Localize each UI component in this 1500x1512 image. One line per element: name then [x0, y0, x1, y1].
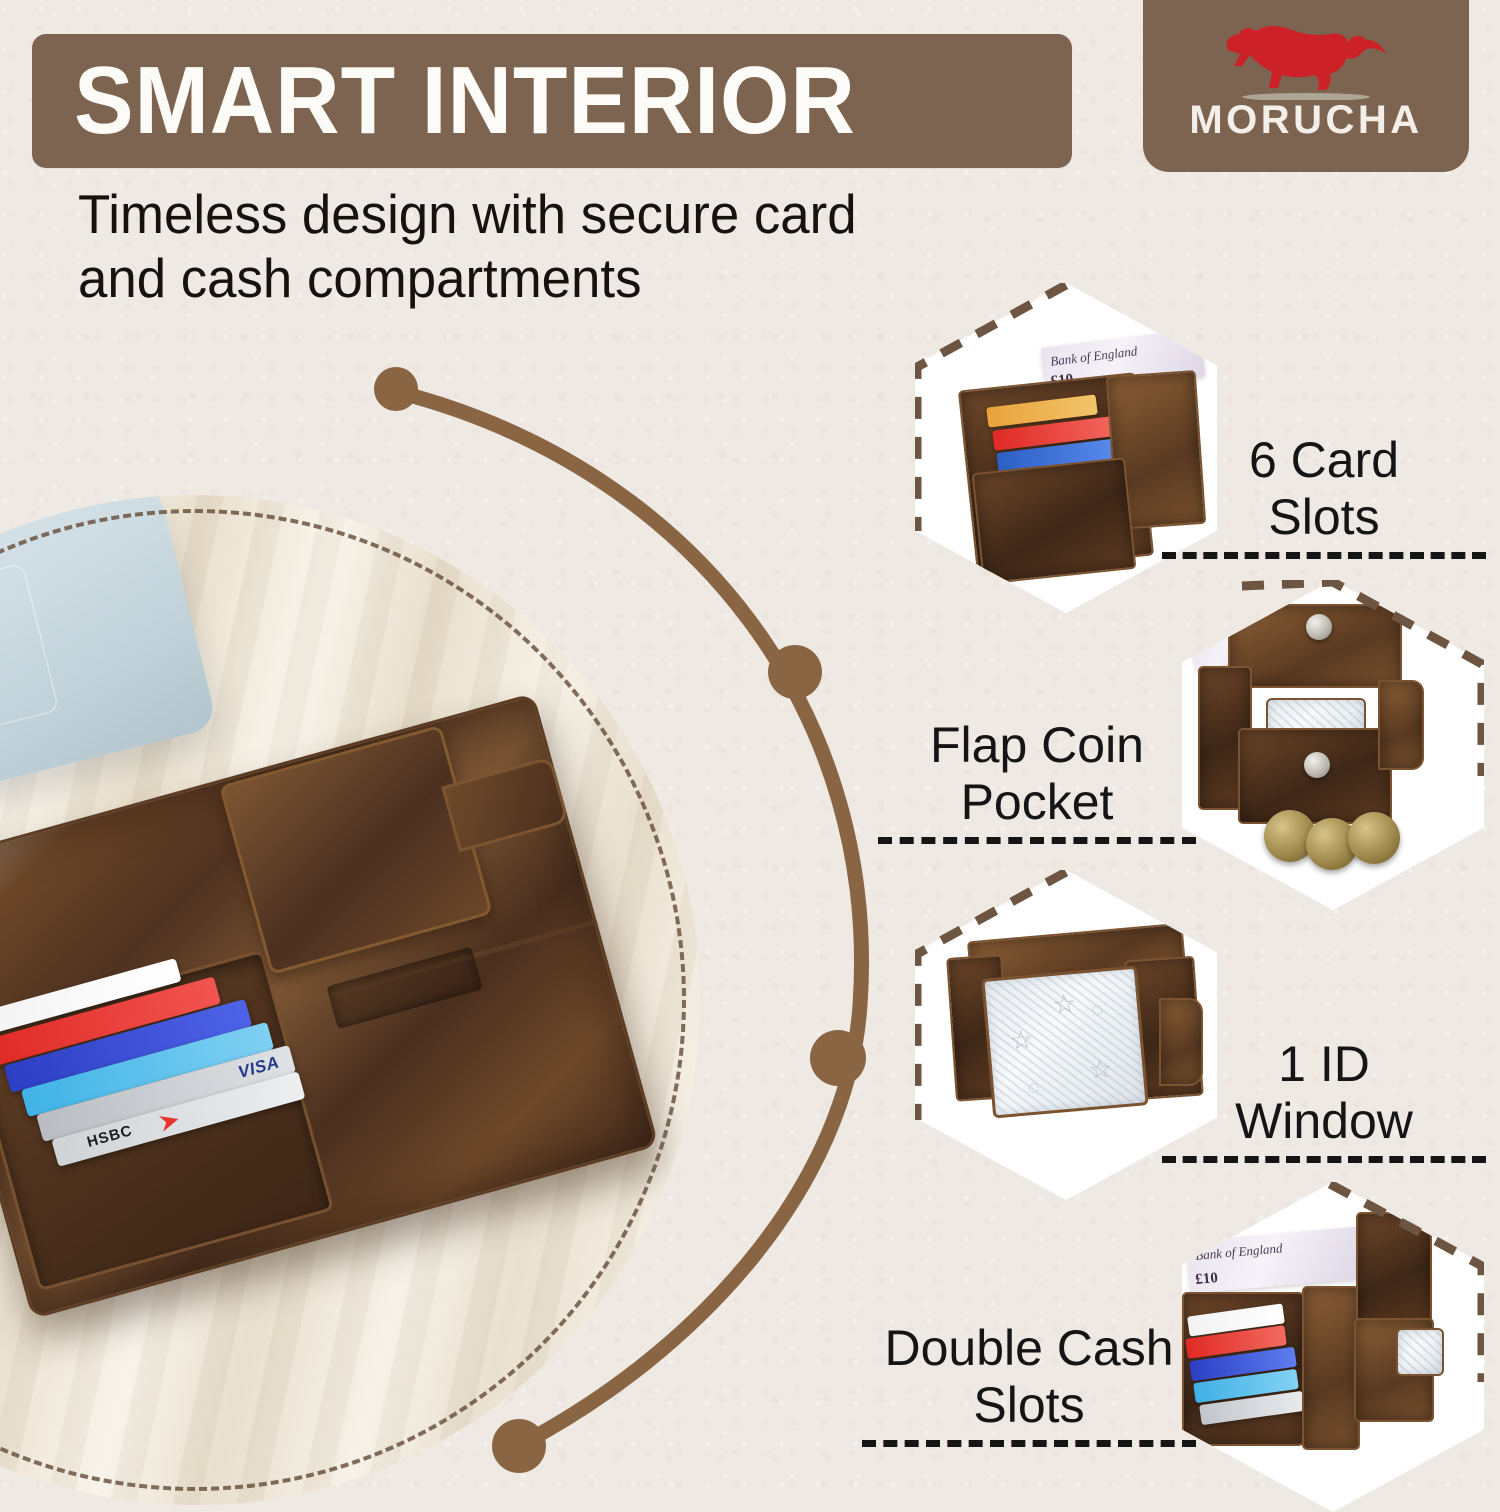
arc-dot-3 [810, 1030, 866, 1086]
feature-rule-card-slots [1162, 552, 1486, 559]
feature-label-card-slots: 6 Card Slots [1162, 432, 1486, 559]
feature-label-id-window: 1 ID Window [1162, 1036, 1486, 1163]
cash-slot-divider [1302, 1286, 1360, 1450]
star-icon-4: ◌ [1027, 1077, 1041, 1098]
hero-photo-container: VISA HSBC [0, 495, 700, 1505]
star-icon-5: ◌ [1090, 1000, 1104, 1021]
feature-label-cash-slots: Double Cash Slots [862, 1320, 1196, 1447]
feature-rule-id-window [1162, 1156, 1486, 1163]
running-bull-icon [1206, 14, 1406, 100]
feature-label-text-card-slots: 6 Card Slots [1162, 432, 1486, 546]
banknote-amount-4: £10 [1195, 1270, 1219, 1289]
wallet-front-pocket-1 [972, 457, 1137, 584]
star-icon-1: ☆ [1009, 1026, 1034, 1054]
feature-photo-cash-slots: Bank of England £10 [1182, 1182, 1484, 1512]
infographic-canvas: VISA HSBC SMART INTERIOR Timeless design… [0, 0, 1500, 1500]
feature-rule-cash-slots [862, 1440, 1196, 1447]
feature-label-text-cash-slots: Double Cash Slots [862, 1320, 1196, 1434]
arc-dot-1 [374, 367, 418, 411]
feature-label-text-id-window: 1 ID Window [1162, 1036, 1486, 1150]
page-subtitle: Timeless design with secure card and cas… [78, 182, 1019, 311]
coin-3 [1348, 812, 1400, 864]
feature-label-text-coin-pocket: Flap Coin Pocket [878, 717, 1196, 831]
feature-rule-coin-pocket [878, 837, 1196, 844]
id-window: ☆ ☆ ☆ ◌ ◌ [981, 965, 1149, 1118]
star-icon-3: ☆ [1087, 1055, 1112, 1083]
feature-label-coin-pocket: Flap Coin Pocket [878, 717, 1196, 844]
feature-photo-coin-pocket [1182, 580, 1484, 910]
arc-dot-2 [768, 645, 822, 699]
page-title: SMART INTERIOR [74, 53, 856, 149]
title-bar: SMART INTERIOR [32, 34, 1072, 168]
wallet-tab-2 [1378, 680, 1424, 770]
brand-logo: MORUCHA [1143, 0, 1469, 172]
star-icon-2: ☆ [1052, 990, 1077, 1018]
banknote-text: Bank of England [1049, 343, 1138, 370]
banknote-text-4: Bank of England [1195, 1240, 1283, 1264]
coin-pocket-snap [1304, 752, 1330, 778]
brand-name: MORUCHA [1189, 98, 1422, 143]
cash-slot-lining [1396, 1328, 1444, 1376]
coin-flap-snap-top [1306, 614, 1332, 640]
